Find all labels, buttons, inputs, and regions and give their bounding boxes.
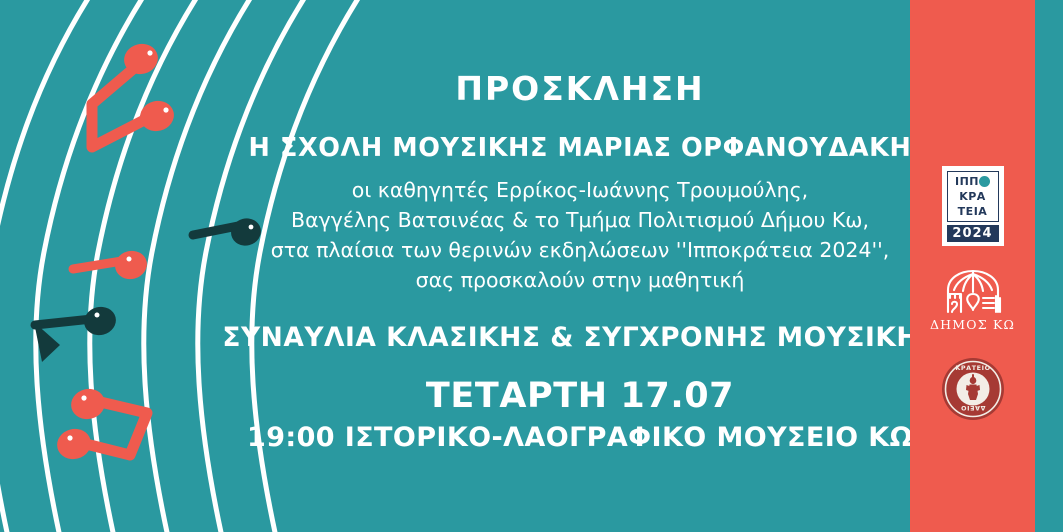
note-single-mid-navy-b <box>34 304 119 362</box>
svg-text:ΚΡΑΤΕΙΟ: ΚΡΑΤΕΙΟ <box>955 364 990 372</box>
body-text: οι καθηγητές Ερρίκος-Ιωάννης Τρουμούλης,… <box>271 175 890 296</box>
dimos-label: ΔΗΜΟΣ ΚΩ <box>930 319 1015 332</box>
note-single-mid-coral <box>73 248 150 283</box>
hipp-row-1: ΙΠΠ <box>949 174 997 189</box>
dimos-emblem-icon <box>938 268 1008 316</box>
body-line-1: οι καθηγητές Ερρίκος-Ιωάννης Τρουμούλης, <box>271 175 890 205</box>
svg-text:ΔΑΕΙΟ: ΔΑΕΙΟ <box>960 404 985 412</box>
logo-dimos-kw: ΔΗΜΟΣ ΚΩ <box>910 268 1035 332</box>
note-pair-bottom <box>54 385 147 462</box>
invitation-heading: ΠΡΟΣΚΛΗΣΗ <box>455 72 704 105</box>
body-line-3: στα πλαίσια των θερινών εκδηλώσεων ''Ιππ… <box>271 235 890 265</box>
hipp-row-2: ΚΡΑ <box>949 189 997 204</box>
note-pair-top <box>92 40 177 147</box>
event-date: ΤΕΤΑΡΤΗ 17.07 <box>426 379 734 414</box>
hipp-omicron-circle-icon <box>979 176 990 187</box>
hipp-row-2-text: ΚΡΑ <box>959 191 986 202</box>
hipp-row-3b-text: ΙΑ <box>974 206 988 217</box>
body-line-4: σας προσκαλούν στην μαθητική <box>271 265 890 295</box>
logo-kratio-seal: ΚΡΑΤΕΙΟ ΔΑΕΙΟ <box>910 356 1035 422</box>
school-name: Η ΣΧΟΛΗ ΜΟΥΣΙΚΗΣ ΜΑΡΙΑΣ ΟΡΦΑΝΟΥΔΑΚΗ <box>249 136 912 162</box>
event-poster: ΠΡΟΣΚΛΗΣΗ Η ΣΧΟΛΗ ΜΟΥΣΙΚΗΣ ΜΑΡΙΑΣ ΟΡΦΑΝΟ… <box>0 0 1063 532</box>
logo-ippokrateia: ΙΠΠ ΚΡΑ ΤΕ ΙΑ 2024 <box>910 166 1035 246</box>
event-venue: 19:00 ΙΣΤΟΡΙΚΟ-ΛΑΟΓΡΑΦΙΚΟ ΜΟΥΣΕΙΟ ΚΩ <box>247 424 913 451</box>
kratio-seal-icon: ΚΡΑΤΕΙΟ ΔΑΕΙΟ <box>940 356 1006 422</box>
hipp-row-3a-text: ΤΕ <box>958 206 974 217</box>
logo-sidebar: ΙΠΠ ΚΡΑ ΤΕ ΙΑ 2024 <box>910 0 1035 532</box>
poster-content: ΠΡΟΣΚΛΗΣΗ Η ΣΧΟΛΗ ΜΟΥΣΙΚΗΣ ΜΑΡΙΑΣ ΟΡΦΑΝΟ… <box>250 0 910 532</box>
concert-title: ΣΥΝΑΥΛΙΑ ΚΛΑΣΙΚΗΣ & ΣΥΓΧΡΟΝΗΣ ΜΟΥΣΙΚΗΣ <box>222 325 937 352</box>
hipp-row-1-text: ΙΠΠ <box>955 176 979 187</box>
hipp-year-banner: 2024 <box>947 225 999 242</box>
hipp-row-3: ΤΕ ΙΑ <box>949 204 997 219</box>
body-line-2: Βαγγέλης Βατσινέας & το Τμήμα Πολιτισμού… <box>271 205 890 235</box>
